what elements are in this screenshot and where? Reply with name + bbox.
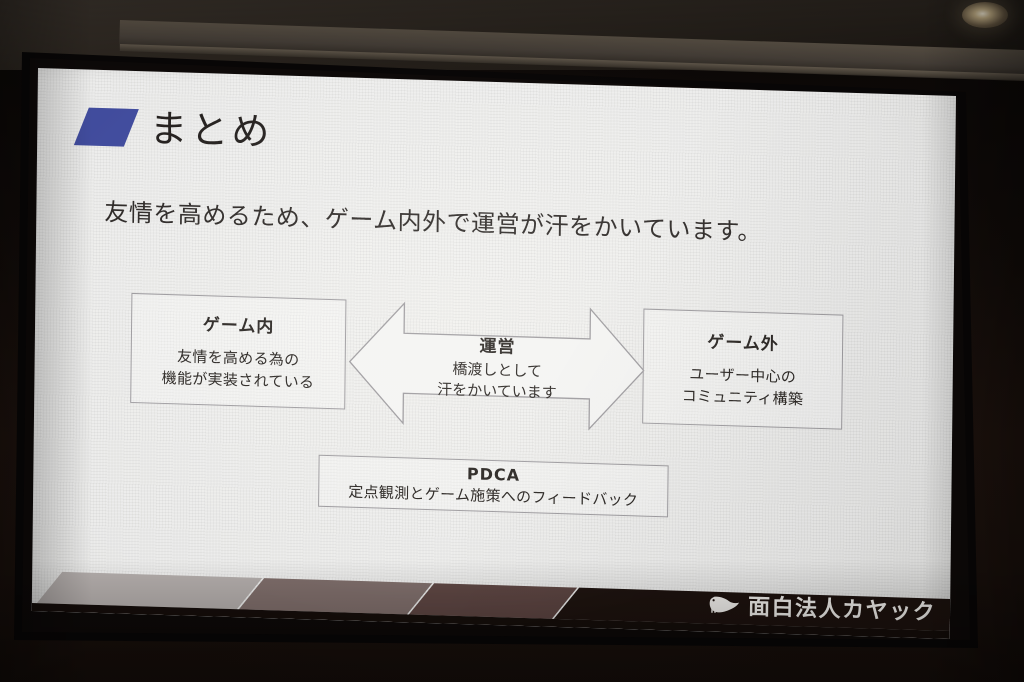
out-game-title: ゲーム外 xyxy=(707,328,779,355)
out-game-line2: コミュニティ構築 xyxy=(682,386,804,411)
pdca-line1: 定点観測とゲーム施策へのフィードバック xyxy=(348,481,638,512)
center-arrow-label: 運営 橋渡しとして 汗をかいています xyxy=(394,329,600,406)
in-game-title: ゲーム内 xyxy=(203,310,275,337)
photo-scene: まとめ 友情を高めるため、ゲーム内外で運営が汗をかいています。 運営 橋渡しとし… xyxy=(0,0,1024,682)
summary-diagram: 運営 橋渡しとして 汗をかいています ゲーム内 友情を高める為の 機能が実装され… xyxy=(32,68,956,639)
pdca-title: PDCA xyxy=(467,464,520,485)
diagram-box-out-game: ゲーム外 ユーザー中心の コミュニティ構築 xyxy=(642,309,843,430)
brand-name: 面白法人カヤック xyxy=(748,589,936,627)
diagram-box-pdca: PDCA 定点観測とゲーム施策へのフィードバック xyxy=(318,455,669,518)
diagram-box-in-game: ゲーム内 友情を高める為の 機能が実装されている xyxy=(130,293,346,410)
kayac-cat-icon xyxy=(707,593,741,616)
projected-slide: まとめ 友情を高めるため、ゲーム内外で運営が汗をかいています。 運営 橋渡しとし… xyxy=(32,68,956,639)
in-game-line2: 機能が実装されている xyxy=(162,367,315,393)
center-arrow-title: 運営 xyxy=(395,329,600,360)
